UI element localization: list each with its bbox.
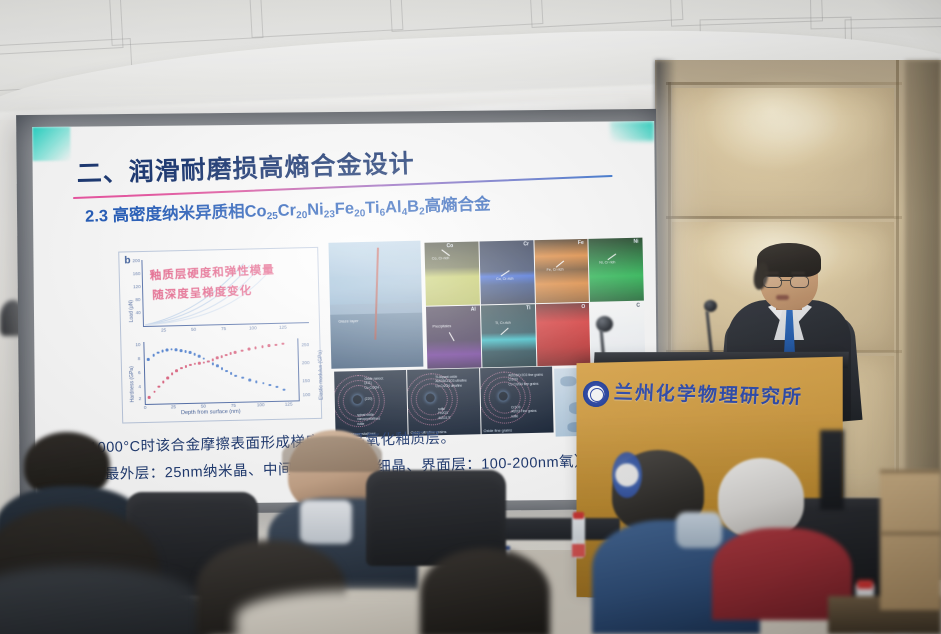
glasses-bridge (780, 280, 790, 281)
audience-head-foreground (420, 548, 550, 634)
chart-data-point (234, 351, 237, 354)
chart-data-point (184, 350, 187, 353)
chart-data-point (198, 362, 201, 365)
bottle-cap (857, 580, 873, 589)
slide-subtitle-prefix: 2.3 高密度纳米异质相 (85, 203, 245, 226)
chart-data-point (170, 348, 173, 351)
chart-data-point (162, 381, 165, 384)
chart-data-point (193, 353, 196, 356)
slide-subtitle-suffix: 高熵合金 (424, 195, 491, 215)
box-seam (880, 532, 941, 535)
speaker-mouth (776, 295, 789, 300)
chart-data-point (202, 361, 205, 364)
chart-data-point (179, 349, 182, 352)
chart-data-point (161, 349, 164, 352)
chart-data-point (171, 373, 174, 376)
chart-data-point (230, 372, 233, 375)
chart-data-point (247, 348, 250, 351)
chart-data-point (184, 365, 187, 368)
chart-data-point (276, 386, 279, 389)
eds-map-al: Al Precipitates (426, 305, 481, 369)
chart-data-point (189, 364, 192, 367)
chart-data-point (282, 389, 285, 392)
wall-accent-light (690, 78, 890, 170)
chart-x-axis (145, 400, 300, 405)
chart-data-point (166, 349, 169, 352)
chart-data-point (220, 355, 223, 358)
chart-data-point (216, 365, 219, 368)
chart-data-point (268, 344, 271, 347)
chart-data-point (269, 384, 272, 387)
chart-data-point (241, 349, 244, 352)
chart-data-point (221, 368, 224, 371)
institute-logo-icon (612, 452, 642, 498)
chart-lower-panel: Hardness (GPa) Elastic modulus (GPa) Dep… (121, 334, 321, 423)
formula-co: Co25 (244, 202, 278, 221)
formula-ni: Ni23 (307, 200, 335, 219)
chart-data-point (207, 360, 210, 363)
chart-data-point (254, 346, 257, 349)
sem-label: Glaze layer (338, 318, 358, 323)
chart-data-point (198, 355, 201, 358)
box-seam (880, 470, 941, 473)
chart-data-point (275, 344, 278, 347)
formula-cr: Cr20 (277, 201, 307, 220)
eds-map-fe: Fe Fe, Cr-rich (534, 239, 589, 303)
audience-head-white-hair (718, 458, 804, 538)
eds-map-ni: Ni Ni, Cr-rich (589, 238, 644, 302)
chart-data-point (241, 377, 244, 380)
chart-data-point (147, 358, 150, 361)
chart-upper-panel: b Load (μN) 200 160 120 80 40 25 50 75 1… (119, 248, 319, 339)
chart-data-point (211, 358, 214, 361)
chart-data-point (229, 352, 232, 355)
chart-data-point (180, 367, 183, 370)
sem-cross-section-image: Glaze layer (328, 241, 423, 369)
chart-data-point (157, 351, 160, 354)
chart-y-axis-left (143, 342, 145, 404)
audience-collar (676, 512, 722, 548)
chart-data-point (225, 354, 228, 357)
chart-modulus-ylabel: Elastic modulus (GPa) (318, 350, 325, 400)
chart-data-point (167, 377, 170, 380)
audience-hair (282, 436, 382, 472)
chart-data-point (175, 369, 178, 372)
nanoindentation-chart: b Load (μN) 200 160 120 80 40 25 50 75 1… (118, 247, 322, 424)
microphone-icon (596, 316, 613, 332)
bottle-label (572, 544, 585, 557)
chart-data-point (255, 380, 258, 383)
chart-data-point (281, 342, 284, 345)
formula-al: Al4 (385, 198, 408, 217)
chart-data-point (234, 374, 237, 377)
chart-data-point (261, 345, 264, 348)
formula-ti: Ti6 (365, 199, 385, 218)
chart-hardness-ylabel: Hardness (GPa) (129, 366, 136, 402)
eds-mapping-panel: Co Co, Cr-rich Cr Co, Cr-rich Fe Fe, Cr-… (424, 238, 645, 369)
chart-data-point (202, 357, 205, 360)
chart-data-point (262, 382, 265, 385)
chart-data-point (225, 370, 228, 373)
chart-data-point (216, 357, 219, 360)
chart-xlabel: Depth from surface (nm) (181, 409, 241, 416)
chart-data-point (153, 390, 156, 393)
chart-data-point (158, 385, 161, 388)
wall-panel-seam (896, 60, 899, 500)
glasses-icon (763, 276, 782, 288)
audience-shirt-collar (300, 500, 352, 544)
storage-boxes (880, 470, 941, 610)
chart-data-point (148, 396, 151, 399)
chart-data-point (175, 349, 178, 352)
chart-data-point (189, 351, 192, 354)
slide-title: 二、润滑耐磨损高熵合金设计 (76, 144, 415, 190)
eds-map-o: O (535, 302, 590, 366)
eds-map-co: Co Co, Cr-rich (424, 241, 479, 305)
eds-map-cr: Cr Co, Cr-rich (479, 240, 534, 304)
formula-b: B2 (407, 197, 425, 216)
equipment-stand (820, 430, 844, 510)
eds-map-ti: Ti Ti, Cr-rich (481, 304, 536, 368)
chart-y-axis-right (297, 338, 299, 400)
institute-logo-icon (583, 381, 609, 407)
chart-data-point (152, 354, 155, 357)
chart-data-point (193, 363, 196, 366)
conference-photo-scene: 二、润滑耐磨损高熵合金设计 2.3 高密度纳米异质相Co25Cr20Ni23Fe… (0, 0, 941, 634)
podium-organization-name: 兰州化学物理研究所 (613, 378, 804, 410)
chart-data-point (248, 379, 251, 382)
chart-data-point (212, 362, 215, 365)
formula-fe: Fe20 (334, 199, 365, 218)
glasses-icon (790, 276, 809, 288)
bottle-cap (573, 512, 584, 519)
